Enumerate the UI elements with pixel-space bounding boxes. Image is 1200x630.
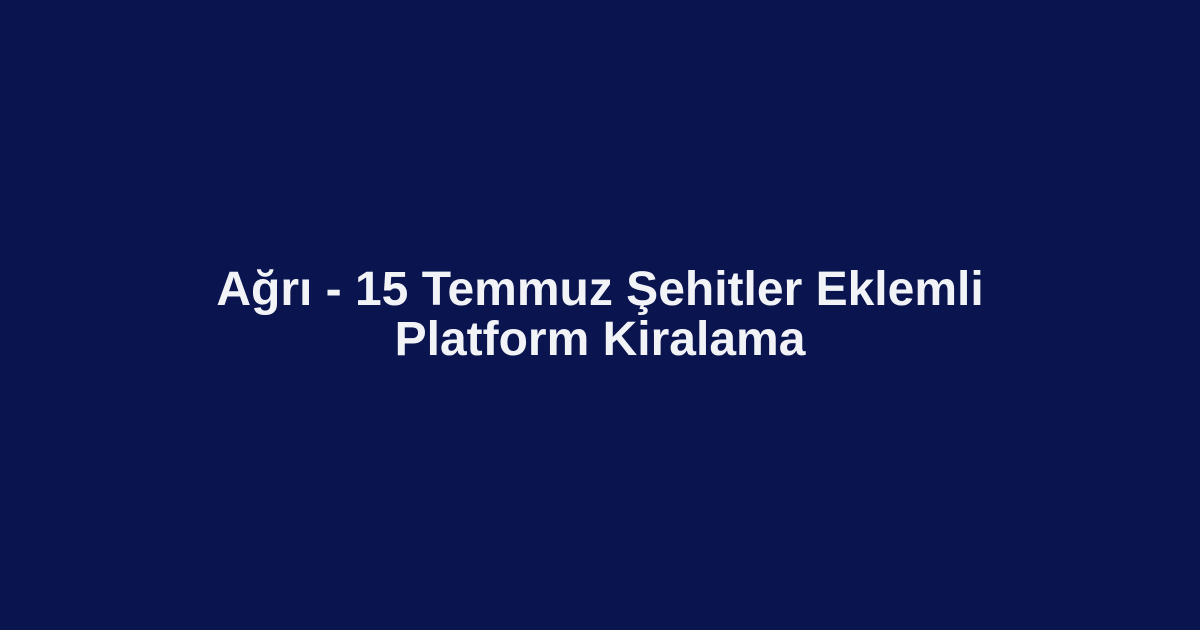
banner-canvas: Ağrı - 15 Temmuz Şehitler Eklemli Platfo… — [0, 0, 1200, 630]
banner-content: Ağrı - 15 Temmuz Şehitler Eklemli Platfo… — [160, 265, 1040, 365]
banner-title: Ağrı - 15 Temmuz Şehitler Eklemli Platfo… — [180, 265, 1020, 365]
